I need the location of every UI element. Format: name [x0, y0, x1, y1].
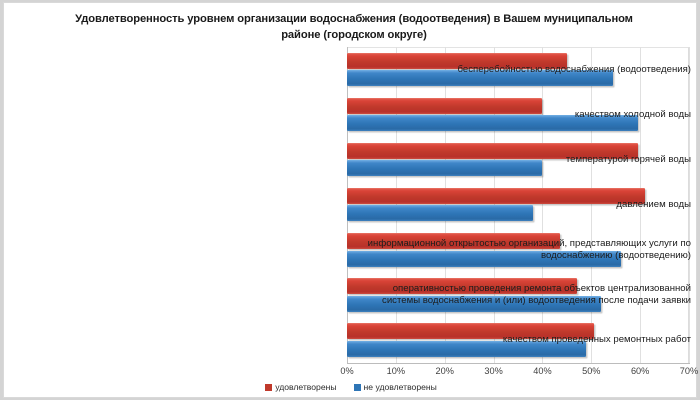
legend-label: не удовлетворены: [364, 382, 437, 392]
category-label: бесперебойностью водоснабжения (водоотве…: [358, 64, 696, 76]
chart-legend: удовлетвореныне удовлетворены: [4, 382, 698, 392]
x-tick-0%: 0%: [327, 366, 367, 376]
x-tick-20%: 20%: [425, 366, 465, 376]
x-tick-60%: 60%: [620, 366, 660, 376]
category-label: температурой горячей воды: [358, 154, 696, 166]
category-label: оперативностью проведения ремонта объект…: [358, 283, 696, 308]
x-tick-50%: 50%: [571, 366, 611, 376]
legend-item[interactable]: удовлетворены: [265, 382, 336, 392]
x-tick-10%: 10%: [376, 366, 416, 376]
category-label: информационной открытостью организаций, …: [358, 238, 696, 263]
legend-swatch-icon: [265, 384, 272, 391]
x-tick-40%: 40%: [522, 366, 562, 376]
x-tick-30%: 30%: [474, 366, 514, 376]
legend-swatch-icon: [354, 384, 361, 391]
x-axis-line: [347, 363, 690, 364]
chart-frame: Удовлетворенность уровнем организации во…: [3, 2, 697, 398]
chart-title: Удовлетворенность уровнем организации во…: [64, 11, 644, 43]
x-tick-70%: 70%: [669, 366, 700, 376]
category-label: давлением воды: [358, 199, 696, 211]
legend-label: удовлетворены: [275, 382, 336, 392]
category-label: качеством проведенных ремонтных работ: [358, 334, 696, 346]
legend-item[interactable]: не удовлетворены: [354, 382, 437, 392]
category-label: качеством холодной воды: [358, 109, 696, 121]
